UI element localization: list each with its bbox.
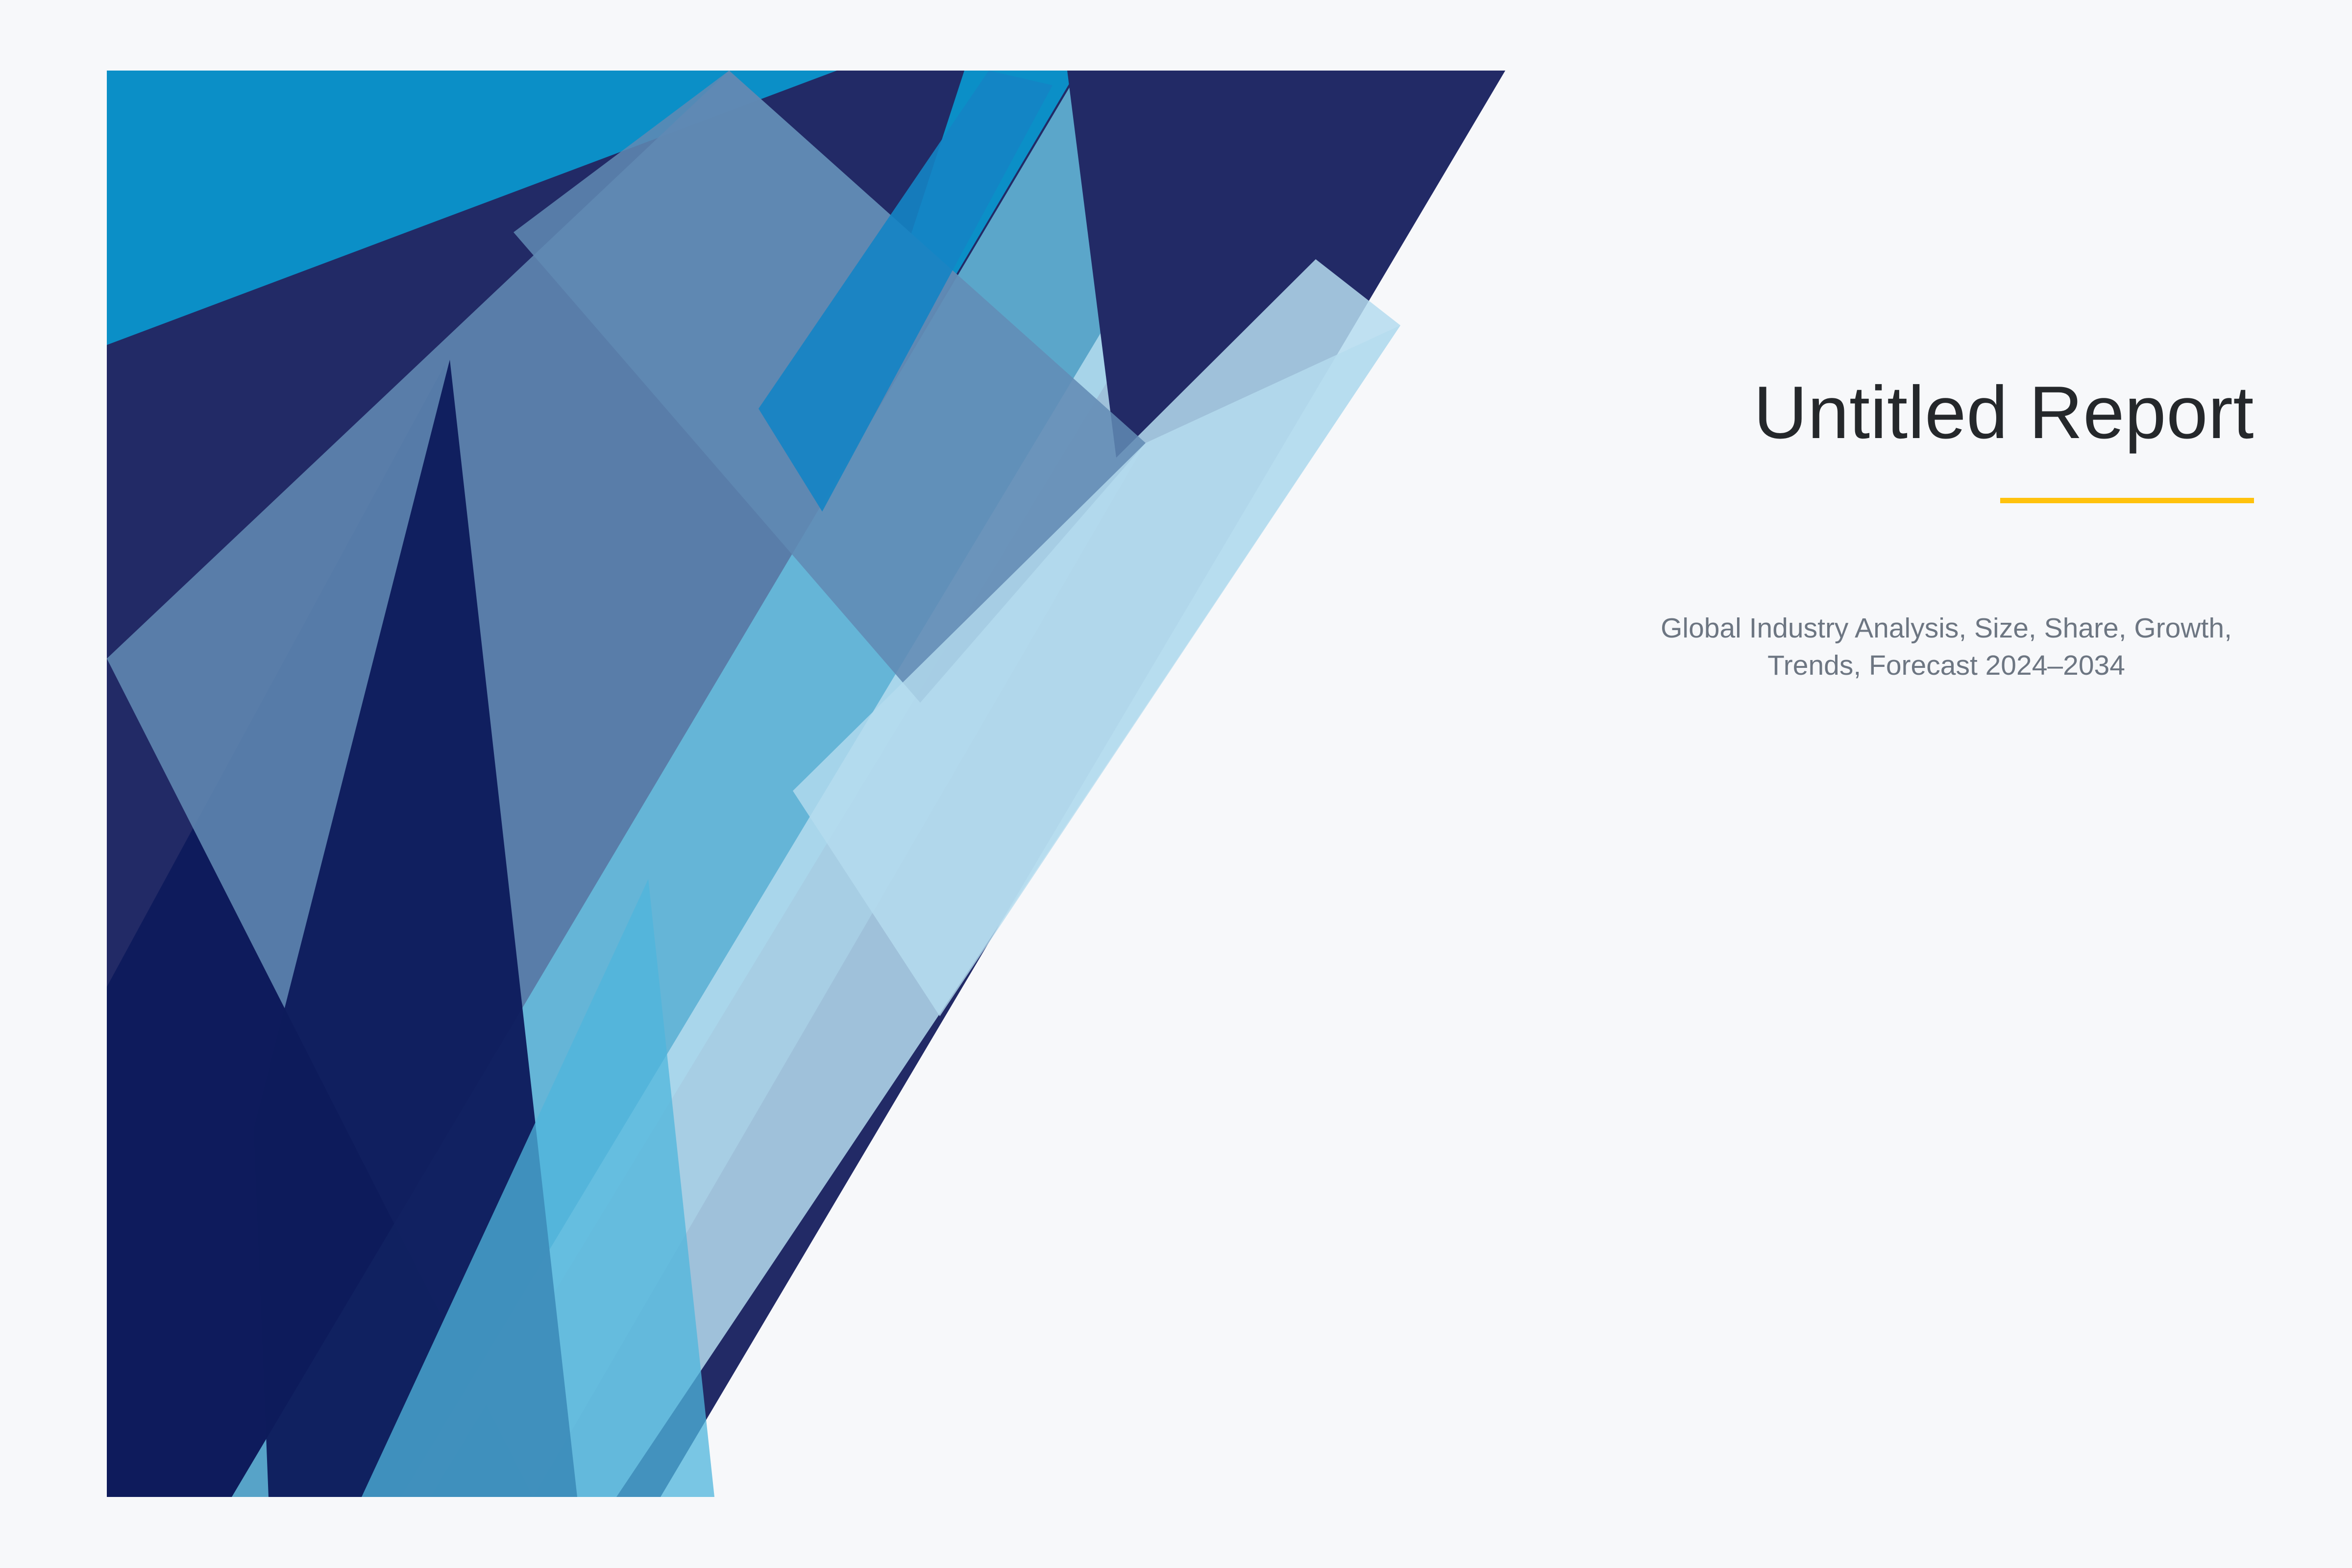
accent-rule [2000, 498, 2254, 503]
cover-page: Untitled Report Global Industry Analysis… [0, 0, 2352, 1568]
report-subtitle: Global Industry Analysis, Size, Share, G… [1642, 610, 2254, 685]
cover-artwork [107, 71, 1505, 1497]
title-block: Untitled Report Global Industry Analysis… [1519, 372, 2254, 685]
abstract-geometric-graphic [107, 71, 1505, 1497]
report-title: Untitled Report [1519, 372, 2254, 453]
